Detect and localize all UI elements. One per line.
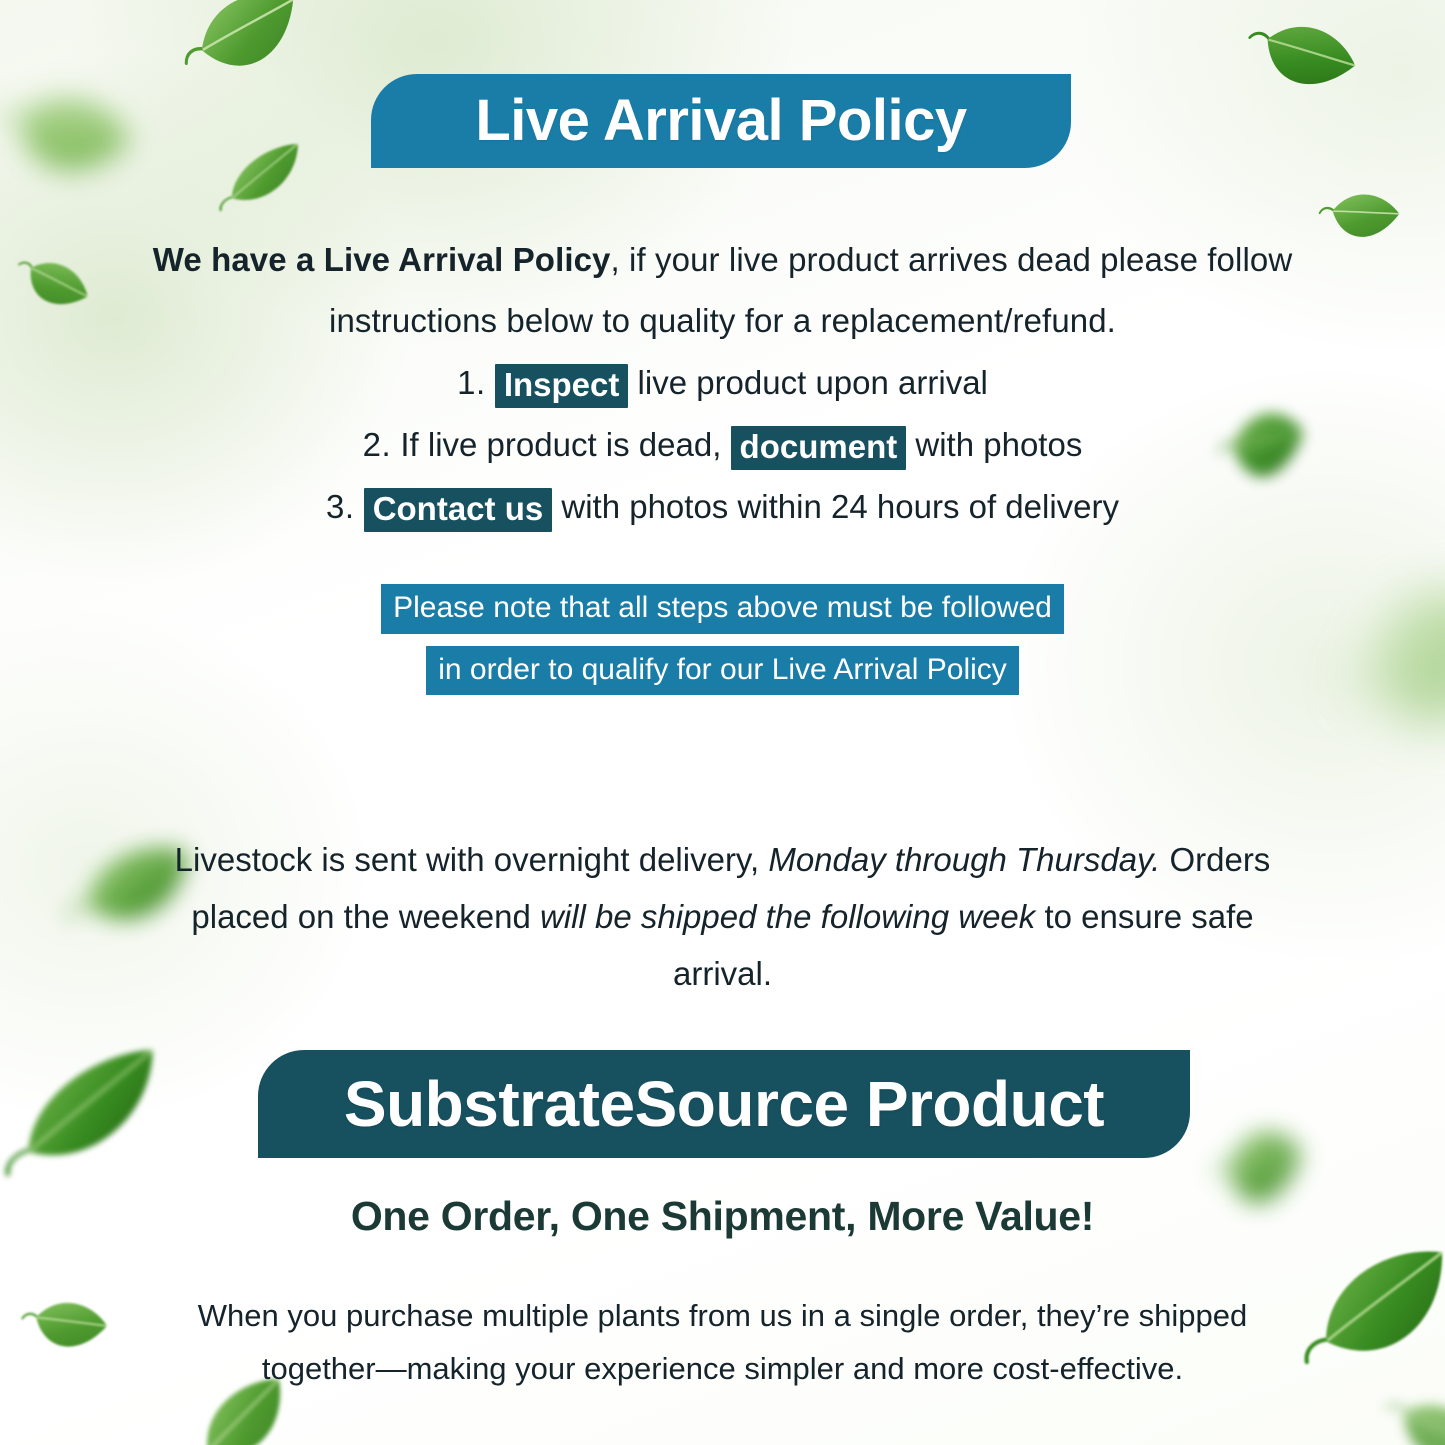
step-text-2-before: If live product is dead, bbox=[400, 426, 721, 463]
value-heading: One Order, One Shipment, More Value! bbox=[150, 1192, 1295, 1241]
live-arrival-policy-banner: Live Arrival Policy bbox=[371, 74, 1071, 168]
content-area: Live Arrival Policy We have a Live Arriv… bbox=[0, 0, 1445, 1445]
step-number-3: 3. bbox=[326, 488, 355, 525]
step-item-2: 2. If live product is dead, document wit… bbox=[150, 414, 1295, 476]
policy-graphic: Live Arrival Policy We have a Live Arriv… bbox=[0, 0, 1445, 1445]
intro-bold-lead: We have a Live Arrival Policy bbox=[153, 241, 611, 278]
substratesource-product-title: SubstrateSource Product bbox=[344, 1072, 1104, 1136]
step-number-2: 2. bbox=[363, 426, 392, 463]
steps-list: 1. Inspect live product upon arrival 2. … bbox=[150, 352, 1295, 538]
step-item-1: 1. Inspect live product upon arrival bbox=[150, 352, 1295, 414]
step-highlight-contact-us: Contact us bbox=[364, 488, 553, 532]
step-highlight-inspect: Inspect bbox=[495, 364, 629, 408]
intro-paragraph: We have a Live Arrival Policy, if your l… bbox=[150, 229, 1295, 351]
policy-note-line-2: in order to qualify for our Live Arrival… bbox=[426, 646, 1019, 696]
step-text-1: live product upon arrival bbox=[638, 364, 988, 401]
policy-note-line-1: Please note that all steps above must be… bbox=[381, 584, 1064, 634]
shipping-italic-1: Monday through Thursday. bbox=[768, 841, 1160, 878]
step-text-3: with photos within 24 hours of delivery bbox=[561, 488, 1119, 525]
value-paragraph: When you purchase multiple plants from u… bbox=[150, 1289, 1295, 1395]
step-highlight-document: document bbox=[731, 426, 907, 470]
step-item-3: 3. Contact us with photos within 24 hour… bbox=[150, 476, 1295, 538]
shipping-italic-2: will be shipped the following week bbox=[540, 898, 1035, 935]
shipping-schedule-paragraph: Livestock is sent with overnight deliver… bbox=[150, 831, 1295, 1002]
shipping-text-1: Livestock is sent with overnight deliver… bbox=[175, 841, 769, 878]
substratesource-product-banner: SubstrateSource Product bbox=[258, 1050, 1190, 1158]
step-number-1: 1. bbox=[457, 364, 486, 401]
step-text-2-after: with photos bbox=[915, 426, 1082, 463]
policy-note-block: Please note that all steps above must be… bbox=[150, 584, 1295, 695]
live-arrival-policy-title: Live Arrival Policy bbox=[475, 92, 966, 150]
